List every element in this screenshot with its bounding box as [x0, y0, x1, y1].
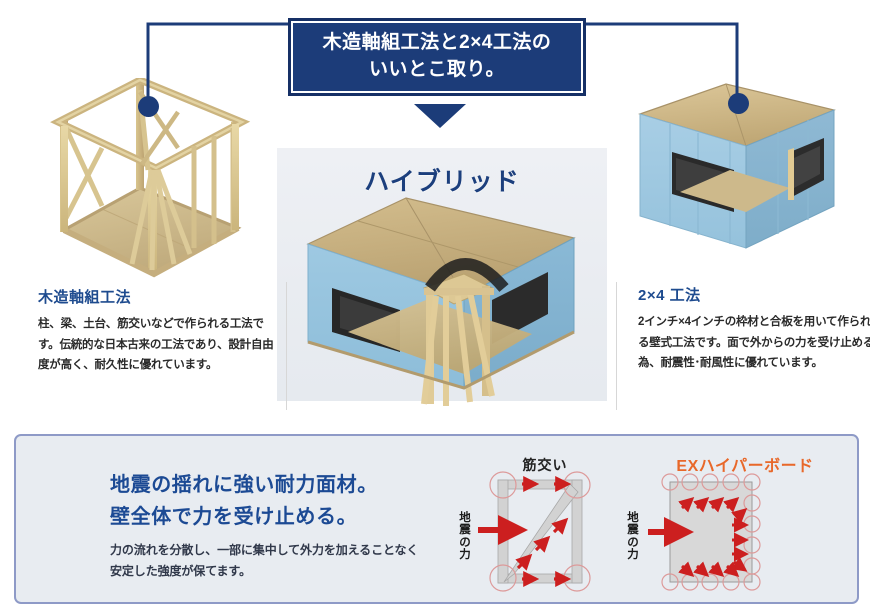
caption-two-by-four: 2×4 工法 2インチ×4インチの枠材と合板を用いて作られる壁式工法です。面で外… — [638, 284, 870, 374]
force-label-brace: 地震の力 — [457, 512, 473, 562]
callout-line-1: 木造軸組工法と2×4工法の — [323, 30, 552, 57]
down-arrow-icon — [414, 104, 466, 128]
diagram-board — [648, 470, 838, 594]
callout-text: 木造軸組工法と2×4工法の いいとこ取り。 — [291, 21, 583, 93]
caption-body-wood-frame: 柱、梁、土台、筋交いなどで作られる工法です。伝統的な日本古来の工法であり、設計自… — [38, 314, 276, 376]
caption-wood-frame: 木造軸組工法 柱、梁、土台、筋交いなどで作られる工法です。伝統的な日本古来の工法… — [38, 286, 276, 376]
hybrid-model — [296, 192, 596, 407]
bottom-heading-line-1: 地震の揺れに強い耐力面材。 — [110, 468, 378, 497]
infographic-root: 木造軸組工法と2×4工法の いいとこ取り。 ハイブリッド 木造軸組工法 柱、梁、… — [0, 0, 870, 594]
connector-dot-right — [728, 93, 749, 114]
callout-line-2: いいとこ取り。 — [369, 57, 505, 84]
connector-dot-left — [138, 96, 159, 117]
connector-line-right — [585, 20, 745, 110]
diagram-brace — [478, 470, 618, 594]
caption-title-two-by-four: 2×4 工法 — [638, 284, 870, 305]
hybrid-label: ハイブリッド — [277, 162, 607, 198]
divider-right — [616, 282, 617, 410]
bottom-sub-line-1: 力の流れを分散し、一部に集中して外力を加えることなく — [110, 541, 418, 558]
bottom-heading-line-2: 壁全体で力を受け止める。 — [110, 500, 357, 529]
force-label-board: 地震の力 — [625, 512, 641, 562]
caption-body-two-by-four: 2インチ×4インチの枠材と合板を用いて作られる壁式工法です。面で外からの力を受け… — [638, 312, 870, 374]
bottom-sub-line-2: 安定した強度が保てます。 — [110, 562, 251, 579]
caption-title-wood-frame: 木造軸組工法 — [38, 286, 276, 307]
divider-left — [286, 282, 287, 410]
callout-box: 木造軸組工法と2×4工法の いいとこ取り。 — [288, 18, 586, 96]
